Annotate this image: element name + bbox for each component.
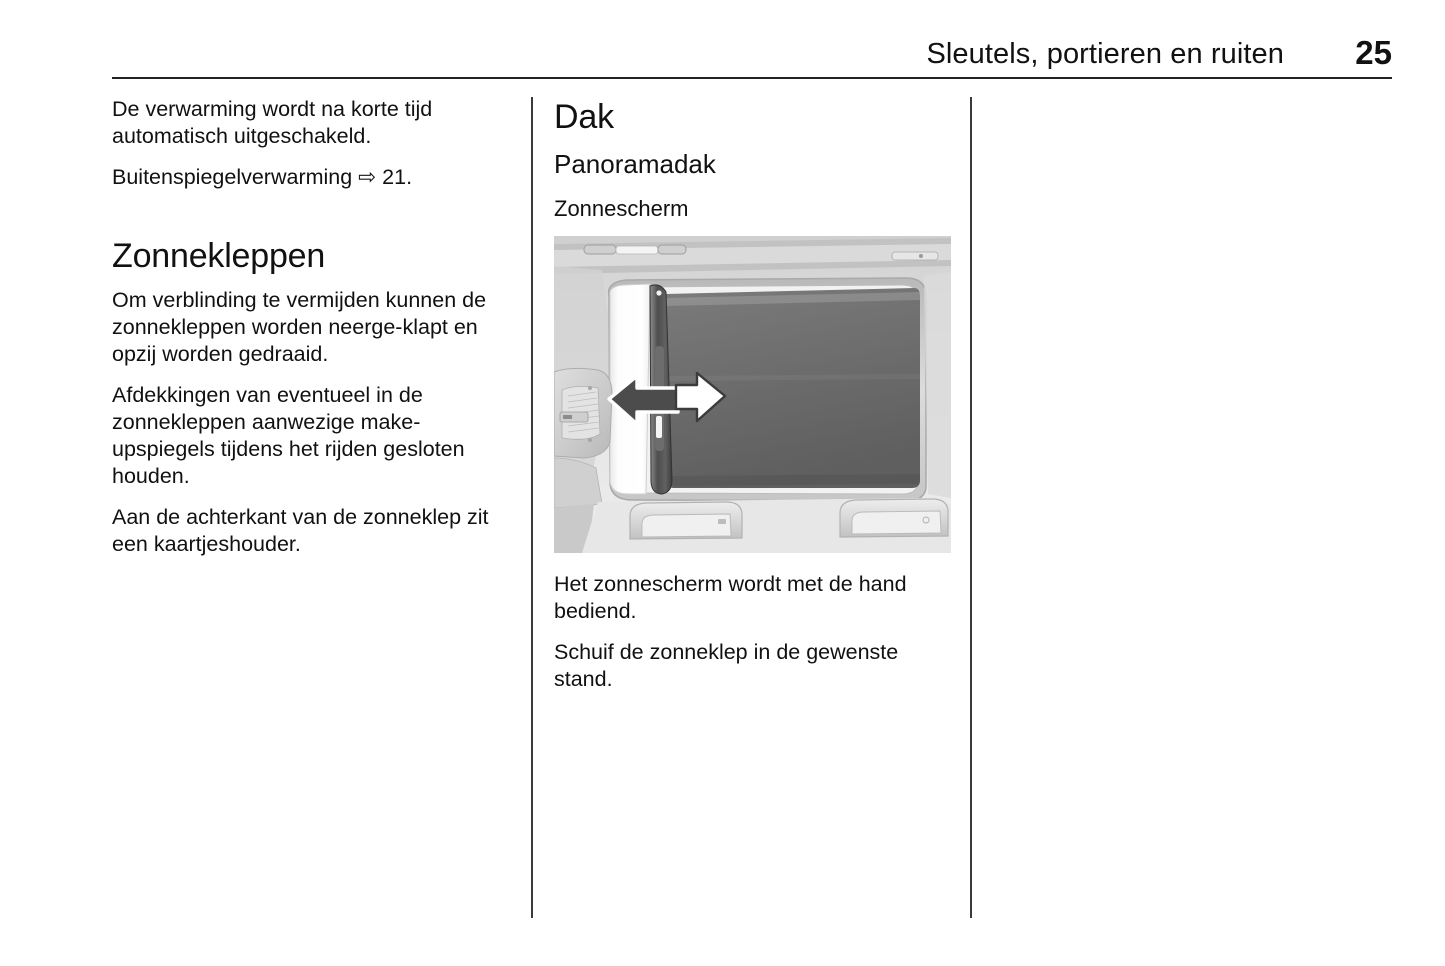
heading-panoramadak: Panoramadak xyxy=(554,148,954,181)
paragraph-sun-visor-usage: Om verblinding te vermijden kunnen de zo… xyxy=(112,287,512,368)
paragraph-heating-auto-off: De verwarming wordt na korte tijd automa… xyxy=(112,96,512,150)
column-divider-right xyxy=(970,97,972,918)
heading-zonnekleppen: Zonnekleppen xyxy=(112,235,512,277)
paragraph-card-holder: Aan de achterkant van de zonneklep zit e… xyxy=(112,504,512,558)
paragraph-vanity-mirror-covers: Afdekkingen van eventueel in de zonnekle… xyxy=(112,382,512,490)
column-divider-left xyxy=(531,97,533,918)
paragraph-sunshade-manual: Het zonnescherm wordt met de hand bedien… xyxy=(554,571,954,625)
heading-spacer xyxy=(112,205,512,235)
page-title: Sleutels, portieren en ruiten xyxy=(926,36,1284,72)
heading-zonnescherm: Zonnescherm xyxy=(554,195,954,223)
paragraph-slide-sunshade: Schuif de zonneklep in de gewenste stand… xyxy=(554,639,954,693)
grab-handle-right xyxy=(840,499,948,537)
left-column: De verwarming wordt na korte tijd automa… xyxy=(112,96,512,572)
cross-reference-mirror-heating: Buitenspiegelverwarming ⇨ 21. xyxy=(112,164,512,191)
header-divider xyxy=(112,77,1392,79)
middle-column: Dak Panoramadak Zonnescherm xyxy=(554,96,954,707)
panoramic-roof-illustration xyxy=(554,236,951,553)
page-header: Sleutels, portieren en ruiten 25 xyxy=(112,36,1392,80)
page-number: 25 xyxy=(1355,33,1392,73)
grab-handle-left xyxy=(630,502,742,539)
heading-dak: Dak xyxy=(554,96,954,138)
